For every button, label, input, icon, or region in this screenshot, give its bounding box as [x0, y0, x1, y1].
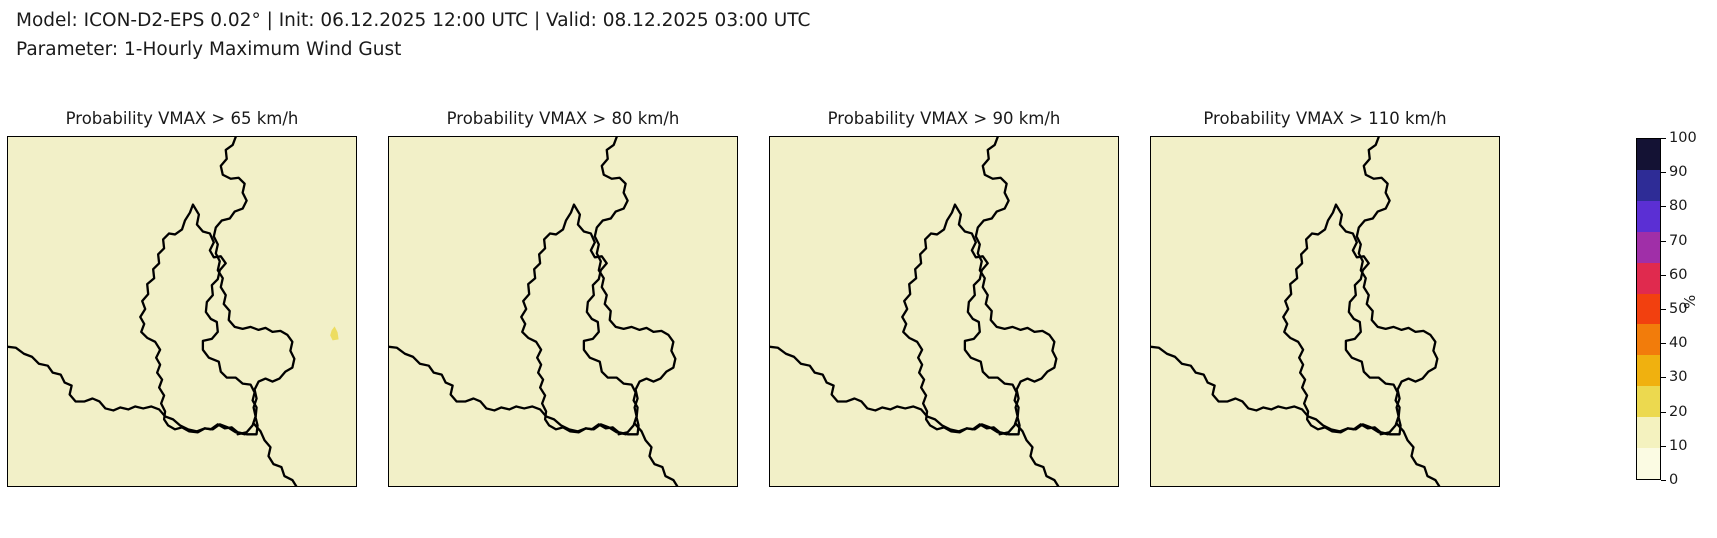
- country-borders-65: [8, 137, 310, 486]
- northeast-border-line: [1357, 137, 1438, 434]
- southwest-border-line: [770, 347, 1007, 434]
- colorbar-tick-mark: [1661, 206, 1666, 207]
- map-svg-65: [8, 137, 356, 486]
- southwest-border-line: [1151, 347, 1388, 434]
- colorbar: 0102030405060708090100 %: [1636, 108, 1717, 508]
- colorbar-tick-label: 30: [1669, 370, 1687, 385]
- colorbar-segment: [1637, 201, 1660, 232]
- colorbar-tick-mark: [1661, 309, 1666, 310]
- map-svg-90: [770, 137, 1118, 486]
- map-panel-90: Probability VMAX > 90 km/h: [766, 108, 1122, 508]
- colorbar-gradient: [1636, 138, 1661, 480]
- colorbar-segment: [1637, 263, 1660, 294]
- colorbar-tick-group: 0102030405060708090100: [1661, 138, 1717, 480]
- southwest-border-line: [8, 347, 245, 434]
- northeast-border-line: [595, 137, 676, 434]
- southwest-border-line: [389, 347, 626, 434]
- probability-patch: [330, 326, 338, 340]
- colorbar-segment: [1637, 232, 1660, 263]
- map-area-65[interactable]: [7, 136, 357, 487]
- panel-title-110: Probability VMAX > 110 km/h: [1147, 108, 1503, 130]
- colorbar-tick-mark: [1661, 241, 1666, 242]
- southeast-border-line: [254, 423, 311, 486]
- country-borders-80: [389, 137, 691, 486]
- southeast-border-line: [635, 423, 692, 486]
- parameter-info-line: Parameter: 1-Hourly Maximum Wind Gust: [16, 35, 810, 64]
- colorbar-tick-label: 40: [1669, 336, 1687, 351]
- northeast-border-line: [976, 137, 1057, 434]
- colorbar-tick-mark: [1661, 446, 1666, 447]
- map-area-110[interactable]: [1150, 136, 1500, 487]
- map-svg-110: [1151, 137, 1499, 486]
- country-borders-90: [770, 137, 1072, 486]
- map-panel-row: Probability VMAX > 65 km/h Probability V…: [0, 108, 1717, 508]
- map-panel-65: Probability VMAX > 65 km/h: [4, 108, 360, 508]
- model-info-line: Model: ICON-D2-EPS 0.02° | Init: 06.12.2…: [16, 6, 810, 35]
- colorbar-tick-mark: [1661, 412, 1666, 413]
- colorbar-tick-mark: [1661, 343, 1666, 344]
- map-panel-110: Probability VMAX > 110 km/h: [1147, 108, 1503, 508]
- colorbar-tick-label: 100: [1669, 131, 1697, 146]
- panel-title-80: Probability VMAX > 80 km/h: [385, 108, 741, 130]
- probability-shading-65: [330, 326, 338, 340]
- luxembourg-border: [521, 205, 638, 435]
- luxembourg-border: [1283, 205, 1400, 435]
- luxembourg-border: [140, 205, 257, 435]
- colorbar-segment: [1637, 417, 1660, 448]
- colorbar-tick-mark: [1661, 480, 1666, 481]
- northeast-border-line: [214, 137, 295, 434]
- map-svg-80: [389, 137, 737, 486]
- header-block: Model: ICON-D2-EPS 0.02° | Init: 06.12.2…: [16, 6, 810, 64]
- colorbar-tick-label: 80: [1669, 199, 1687, 214]
- colorbar-segment: [1637, 294, 1660, 325]
- colorbar-segment: [1637, 139, 1660, 170]
- colorbar-tick-label: 20: [1669, 404, 1687, 419]
- colorbar-tick-mark: [1661, 172, 1666, 173]
- panel-title-90: Probability VMAX > 90 km/h: [766, 108, 1122, 130]
- colorbar-segment: [1637, 170, 1660, 201]
- colorbar-tick-label: 90: [1669, 165, 1687, 180]
- colorbar-tick-label: 70: [1669, 233, 1687, 248]
- colorbar-tick-mark: [1661, 377, 1666, 378]
- colorbar-tick-label: 0: [1669, 473, 1678, 488]
- country-borders-110: [1151, 137, 1453, 486]
- colorbar-segment: [1637, 355, 1660, 386]
- southeast-border-line: [1397, 423, 1454, 486]
- map-panel-80: Probability VMAX > 80 km/h: [385, 108, 741, 508]
- map-area-90[interactable]: [769, 136, 1119, 487]
- colorbar-tick-mark: [1661, 275, 1666, 276]
- colorbar-segment: [1637, 386, 1660, 417]
- luxembourg-border: [902, 205, 1019, 435]
- map-area-80[interactable]: [388, 136, 738, 487]
- colorbar-tick-label: 10: [1669, 439, 1687, 454]
- colorbar-tick-mark: [1661, 138, 1666, 139]
- colorbar-tick-label: 60: [1669, 268, 1687, 283]
- colorbar-segment: [1637, 324, 1660, 355]
- panel-title-65: Probability VMAX > 65 km/h: [4, 108, 360, 130]
- colorbar-unit-label: %: [1681, 295, 1699, 309]
- colorbar-segment: [1637, 448, 1660, 479]
- southeast-border-line: [1016, 423, 1073, 486]
